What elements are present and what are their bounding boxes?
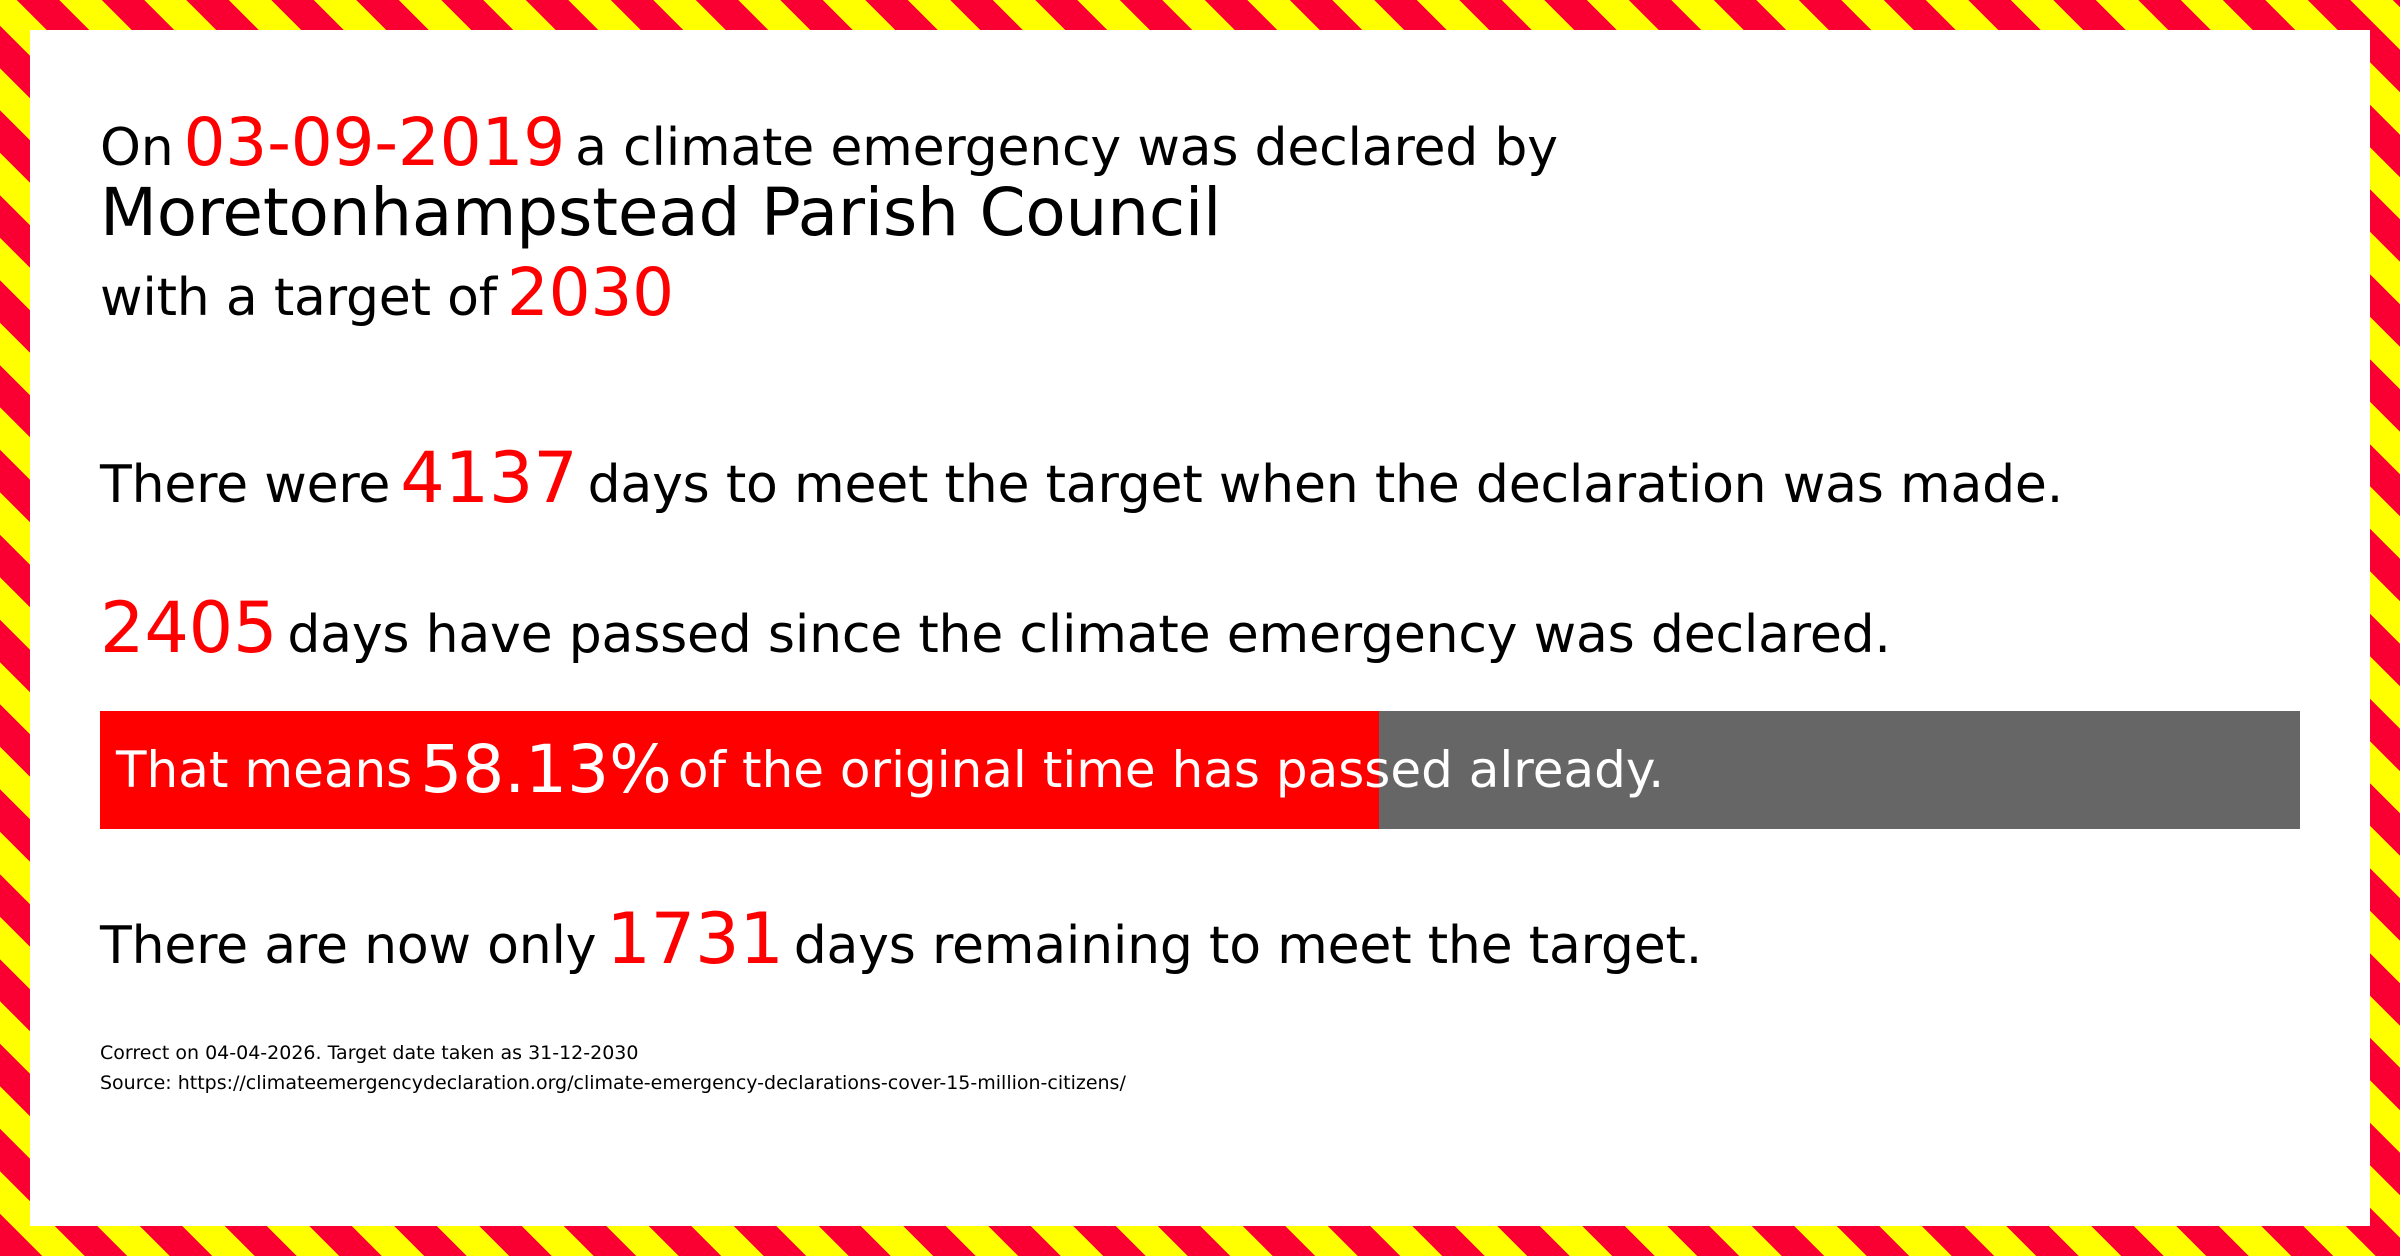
progress-label-prefix: That means [116,745,412,795]
footer-notes: Correct on 04-04-2026. Target date taken… [100,1039,1126,1098]
days-remaining-value: 1731 [606,898,783,980]
info-card: On03-09-2019a climate emergency was decl… [30,30,2370,1226]
source-note: Source: https://climateemergencydeclarat… [100,1069,1126,1098]
council-name: Moretonhampstead Parish Council [100,180,1221,246]
days-passed-value: 2405 [100,587,277,669]
progress-bar-label: That means58.13%of the original time has… [116,711,1664,829]
target-line: with a target of2030 [100,260,674,326]
days-to-target-line: There were4137days to meet the target wh… [100,443,2063,513]
declaration-line: On03-09-2019a climate emergency was decl… [100,110,1558,176]
progress-percent: 58.13% [412,737,678,803]
days-remaining-suffix: days remaining to meet the target. [794,916,1702,976]
declaration-prefix: On [100,118,174,178]
progress-label-suffix: of the original time has passed already. [678,745,1664,795]
declaration-suffix: a climate emergency was declared by [575,118,1558,178]
card-content: On03-09-2019a climate emergency was decl… [100,30,2300,1226]
target-prefix: with a target of [100,268,497,328]
correct-on-note: Correct on 04-04-2026. Target date taken… [100,1039,1126,1068]
declared-date: 03-09-2019 [184,104,566,181]
days-passed-line: 2405days have passed since the climate e… [100,593,1891,663]
days-remaining-prefix: There are now only [100,916,596,976]
hazard-border-frame: On03-09-2019a climate emergency was decl… [0,0,2400,1256]
days-passed-suffix: days have passed since the climate emerg… [287,605,1890,665]
progress-bar: That means58.13%of the original time has… [100,711,2300,829]
days-to-target-suffix: days to meet the target when the declara… [588,455,2063,515]
days-remaining-line: There are now only1731days remaining to … [100,904,1702,974]
days-to-target-prefix: There were [100,455,390,515]
target-year: 2030 [507,254,674,331]
days-to-target-value: 4137 [400,437,577,519]
